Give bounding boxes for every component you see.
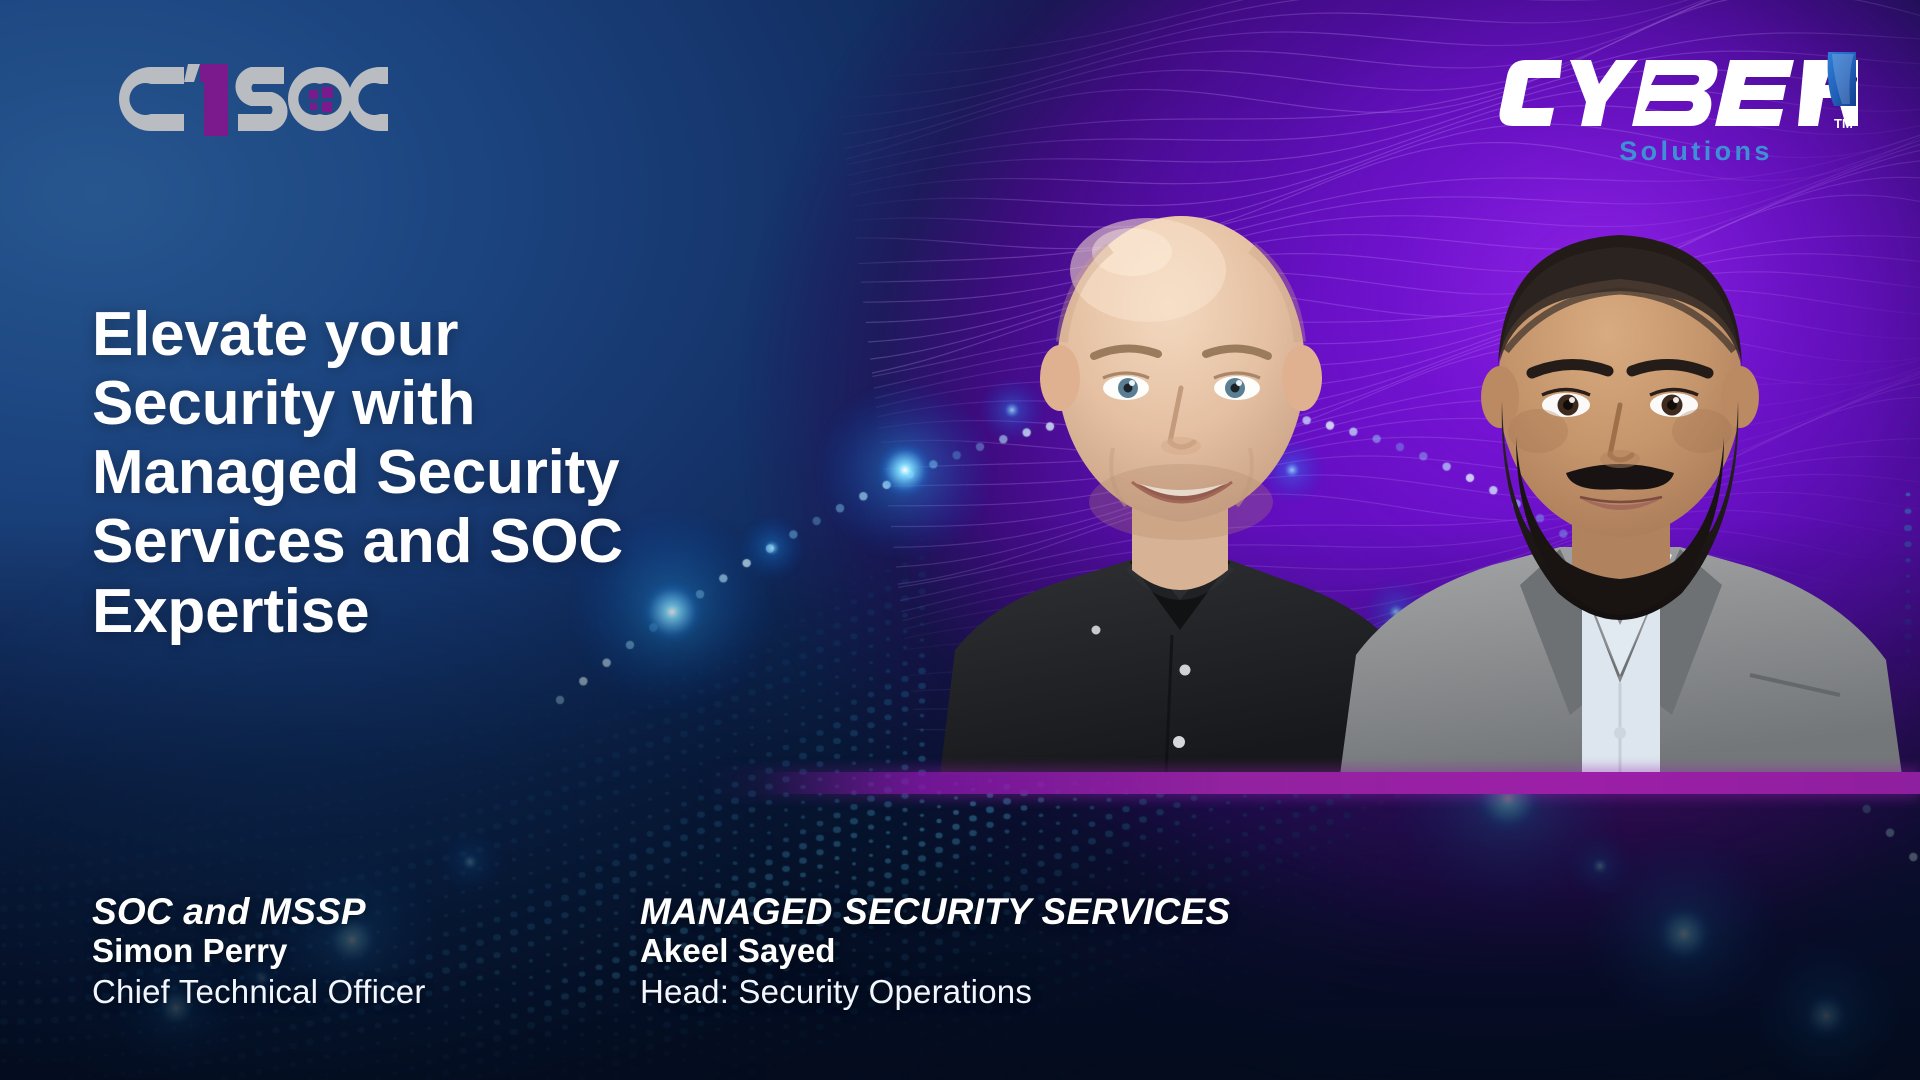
c1soc-logo-icon (88, 58, 388, 140)
headline-line-5: Expertise (92, 577, 882, 646)
speaker-block-1: SOC and MSSP Simon Perry Chief Technical… (92, 893, 426, 1014)
speaker-2-role: Head: Security Operations (640, 971, 1230, 1014)
solutions-label: Solutions (1619, 136, 1773, 166)
speaker-2-topic: MANAGED SECURITY SERVICES (640, 893, 1230, 931)
speaker-photo-2 (1320, 155, 1920, 775)
cyber1-solutions-logo[interactable]: TM Solutions CYBER1 Solutions (1498, 48, 1858, 166)
page-title: Elevate your Security with Managed Secur… (92, 300, 882, 646)
c1soc-logo[interactable]: C1SOC (88, 58, 388, 140)
cyber1-solutions-logo-icon: TM Solutions (1498, 48, 1858, 166)
trademark-label: TM (1834, 116, 1853, 131)
speaker-1-name: Simon Perry (92, 931, 426, 971)
speaker-1-role: Chief Technical Officer (92, 971, 426, 1014)
webinar-title-slide: C1SOC (0, 0, 1920, 1080)
headline-line-2: Security with (92, 369, 882, 438)
speaker-photo-2-image (1320, 155, 1920, 775)
speaker-block-2: MANAGED SECURITY SERVICES Akeel Sayed He… (640, 893, 1230, 1014)
speaker-2-name: Akeel Sayed (640, 931, 1230, 971)
headline-line-1: Elevate your (92, 300, 882, 369)
speaker-1-topic: SOC and MSSP (92, 893, 426, 931)
speaker-credits: SOC and MSSP Simon Perry Chief Technical… (0, 864, 1920, 1014)
headline-line-3: Managed Security (92, 438, 882, 507)
purple-separator-bar (760, 772, 1920, 794)
headline-line-4: Services and SOC (92, 507, 882, 576)
